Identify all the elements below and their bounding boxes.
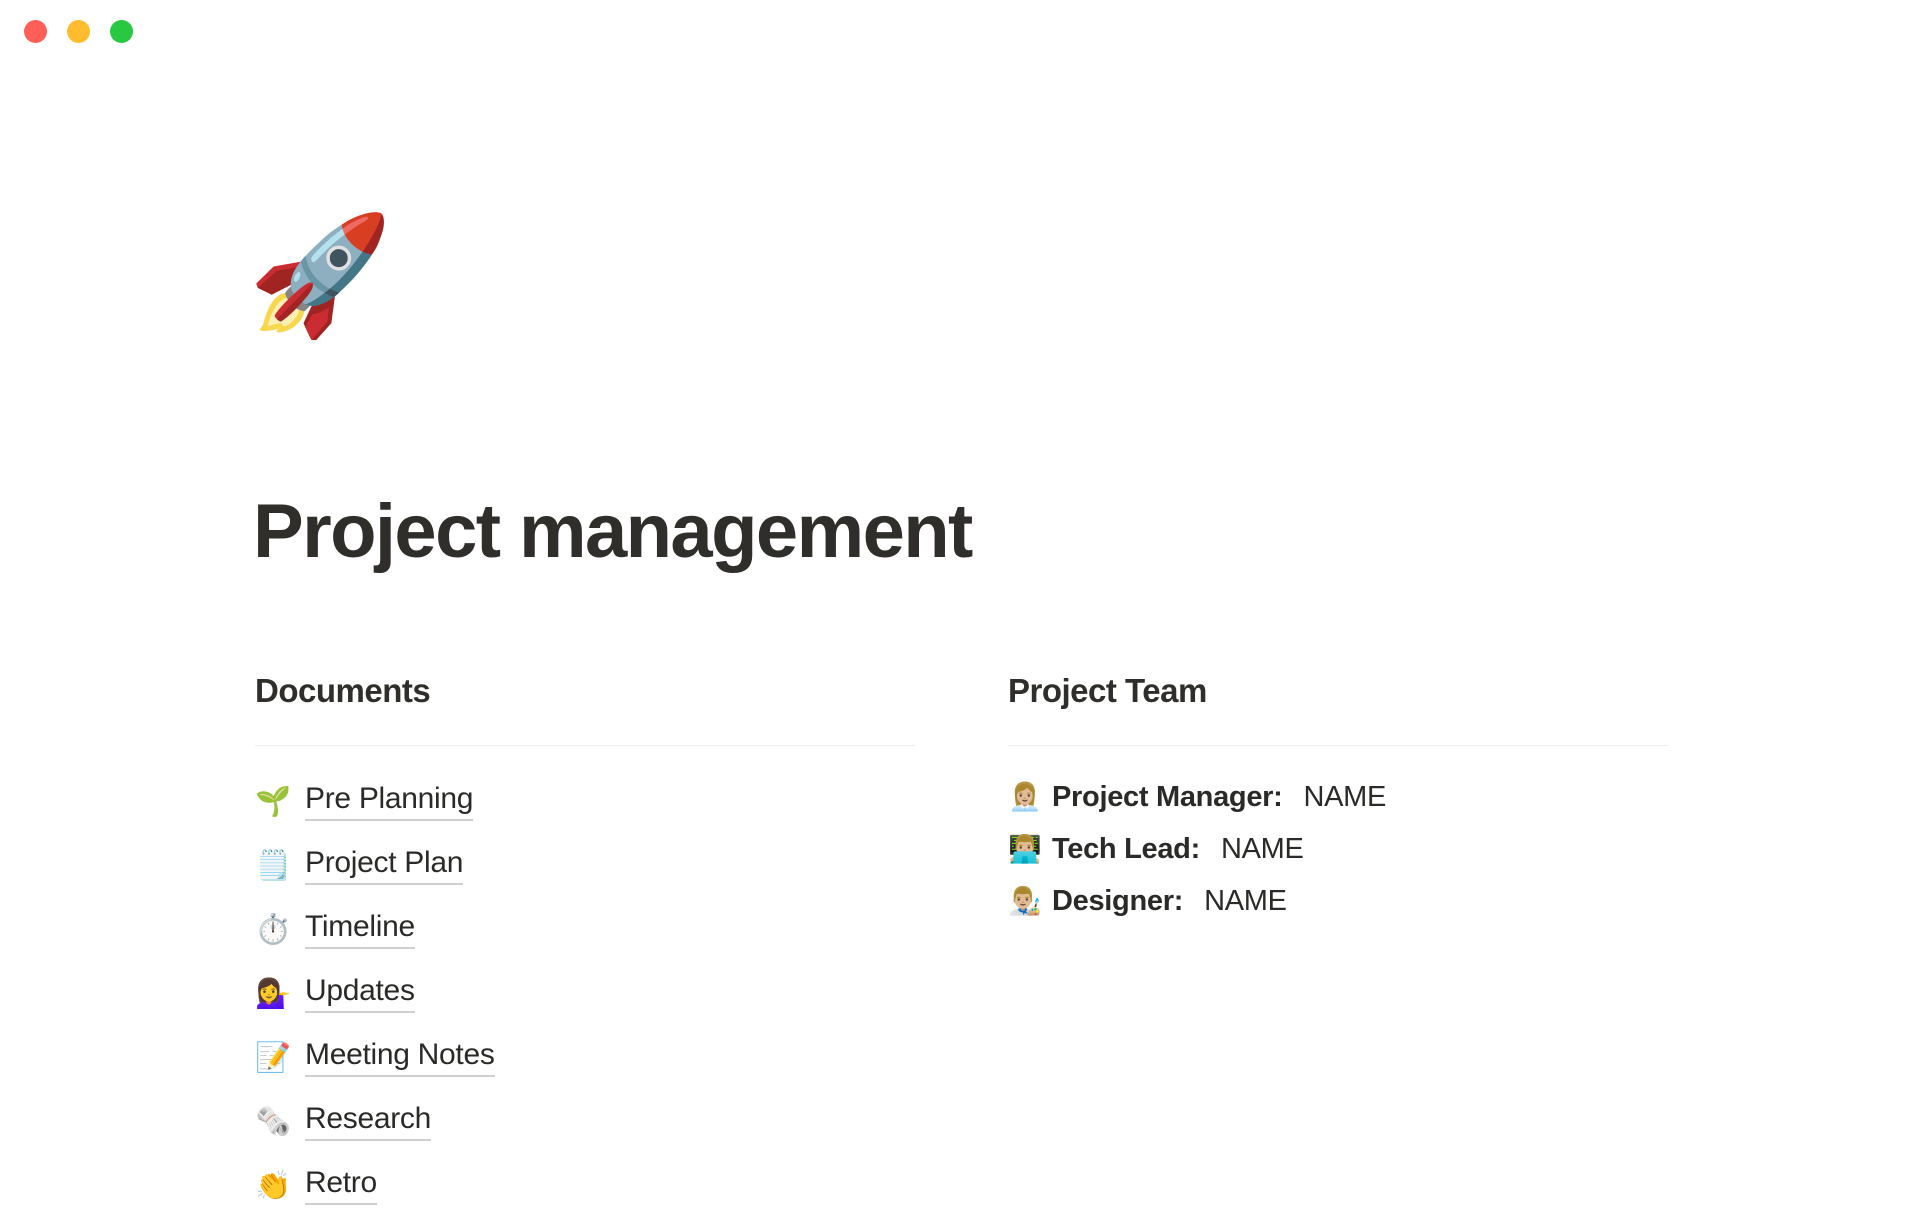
man-artist-emoji: 👨🏼‍🎨 [1008, 888, 1040, 915]
project-team-list: 👩🏼‍💼 Project Manager: NAME 👨🏼‍💻 Tech Lea… [1008, 772, 1668, 928]
document-link-project-plan[interactable]: Project Plan [305, 846, 463, 885]
project-team-column: Project Team 👩🏼‍💼 Project Manager: NAME … [1008, 672, 1668, 1218]
team-role-label: Project Manager: [1052, 781, 1283, 814]
clapping-hands-emoji: 👏 [255, 1171, 289, 1200]
list-item[interactable]: 🌱 Pre Planning [255, 770, 915, 834]
document-link-timeline[interactable]: Timeline [305, 910, 415, 949]
seedling-emoji: 🌱 [255, 787, 289, 816]
list-item[interactable]: 💁‍♀️ Updates [255, 962, 915, 1026]
team-member-name: NAME [1204, 885, 1287, 918]
team-member-name: NAME [1304, 781, 1387, 814]
woman-office-worker-emoji: 👩🏼‍💼 [1008, 784, 1040, 811]
document-link-pre-planning[interactable]: Pre Planning [305, 782, 473, 821]
documents-divider [255, 745, 915, 746]
woman-tipping-hand-emoji: 💁‍♀️ [255, 979, 289, 1008]
rolled-newspaper-emoji: 🗞️ [255, 1107, 289, 1136]
documents-heading: Documents [255, 672, 915, 710]
list-item: 👨🏼‍💻 Tech Lead: NAME [1008, 824, 1668, 876]
project-team-divider [1008, 745, 1668, 746]
document-link-updates[interactable]: Updates [305, 974, 415, 1013]
content-columns: Documents 🌱 Pre Planning 🗒️ Project Plan… [0, 672, 1920, 1218]
memo-emoji: 📝 [255, 1043, 289, 1072]
list-item[interactable]: ⏱️ Timeline [255, 898, 915, 962]
documents-column: Documents 🌱 Pre Planning 🗒️ Project Plan… [255, 672, 915, 1218]
document-link-research[interactable]: Research [305, 1102, 431, 1141]
list-item[interactable]: 👏 Retro [255, 1154, 915, 1218]
page-title[interactable]: Project management [253, 494, 972, 570]
project-team-heading: Project Team [1008, 672, 1668, 710]
stopwatch-emoji: ⏱️ [255, 915, 289, 944]
team-role-label: Tech Lead: [1052, 833, 1200, 866]
list-item[interactable]: 📝 Meeting Notes [255, 1026, 915, 1090]
document-link-meeting-notes[interactable]: Meeting Notes [305, 1038, 495, 1077]
page-content: 🚀 Project management Documents 🌱 Pre Pla… [0, 0, 1920, 1200]
rocket-emoji[interactable]: 🚀 [248, 218, 392, 334]
list-item: 👩🏼‍💼 Project Manager: NAME [1008, 772, 1668, 824]
team-member-name: NAME [1221, 833, 1304, 866]
list-item[interactable]: 🗞️ Research [255, 1090, 915, 1154]
spiral-notepad-emoji: 🗒️ [255, 851, 289, 880]
list-item: 👨🏼‍🎨 Designer: NAME [1008, 876, 1668, 928]
list-item[interactable]: 🗒️ Project Plan [255, 834, 915, 898]
team-role-label: Designer: [1052, 885, 1183, 918]
documents-list: 🌱 Pre Planning 🗒️ Project Plan ⏱️ Timeli… [255, 770, 915, 1218]
man-technologist-emoji: 👨🏼‍💻 [1008, 836, 1040, 863]
